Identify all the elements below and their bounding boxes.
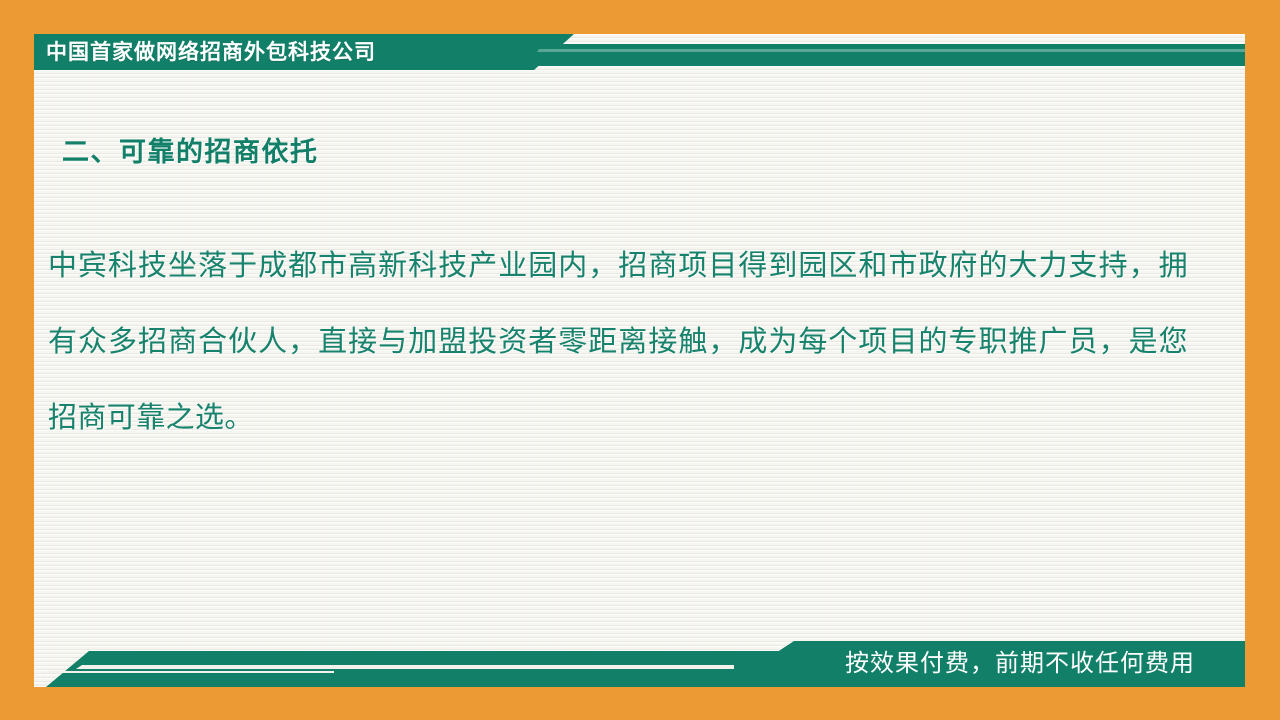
body-paragraph: 中宾科技坐落于成都市高新科技产业园内，招商项目得到园区和市政府的大力支持，拥有众… — [48, 228, 1188, 456]
slide: 中国首家做网络招商外包科技公司 二、可靠的招商依托 中宾科技坐落于成都市高新科技… — [0, 0, 1280, 720]
page-title: 二、可靠的招商依托 — [62, 136, 319, 168]
footer-tagline: 按效果付费，前期不收任何费用 — [845, 645, 1195, 683]
header-title: 中国首家做网络招商外包科技公司 — [46, 36, 566, 68]
